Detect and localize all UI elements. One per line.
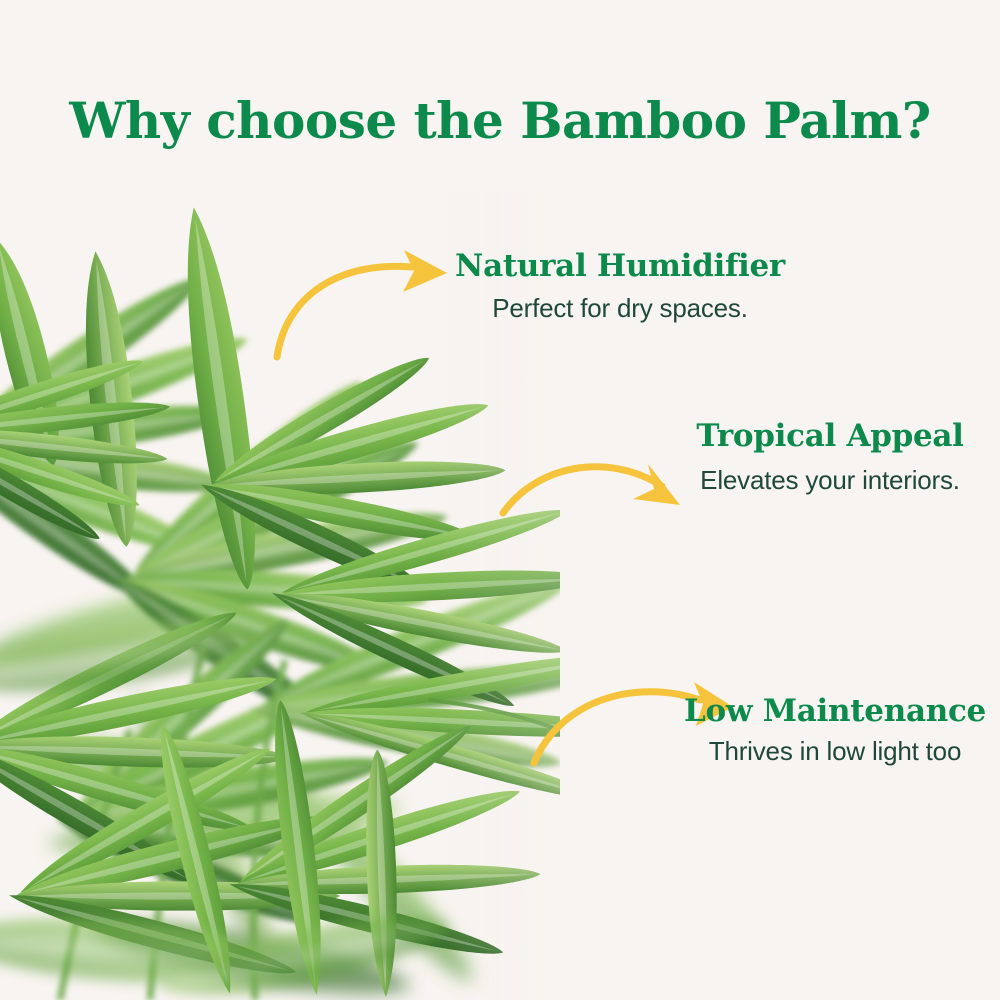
callout-subtext: Thrives in low light too [670, 735, 1000, 768]
callout-low-maintenance: Low Maintenance Thrives in low light too [670, 695, 1000, 768]
bamboo-palm-image [0, 0, 1000, 1000]
callout-natural-humidifier: Natural Humidifier Perfect for dry space… [420, 250, 820, 325]
callout-heading: Low Maintenance [670, 695, 1000, 728]
callout-heading: Tropical Appeal [660, 420, 1000, 453]
page-title: Why choose the Bamboo Palm? [0, 96, 1000, 146]
promo-graphic: Why choose the Bamboo Palm? Natural Humi… [0, 0, 1000, 1000]
callout-subtext: Perfect for dry spaces. [460, 292, 780, 325]
callout-tropical-appeal: Tropical Appeal Elevates your interiors. [660, 420, 1000, 497]
callout-subtext: Elevates your interiors. [660, 464, 1000, 497]
callout-heading: Natural Humidifier [420, 250, 820, 283]
